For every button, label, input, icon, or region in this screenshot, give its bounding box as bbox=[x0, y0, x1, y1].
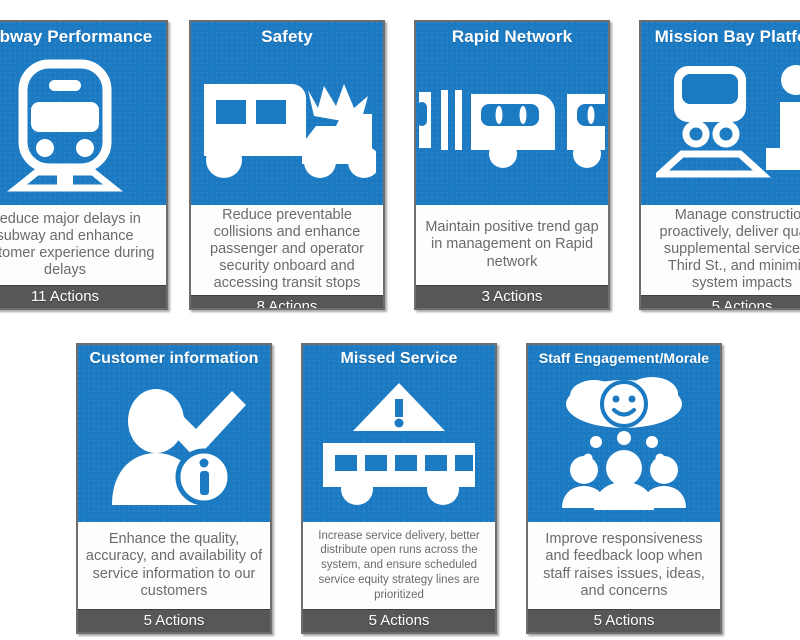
card-action-count[interactable]: 5 Actions bbox=[641, 295, 800, 310]
bus-fleet-speed-icon bbox=[416, 47, 608, 205]
bus-car-collision-icon bbox=[191, 47, 383, 205]
card-header: Missed Service bbox=[303, 345, 495, 522]
card-description: Improve responsiveness and feedback loop… bbox=[528, 522, 720, 609]
person-checkmark-info-icon bbox=[78, 368, 270, 522]
card-header: Rapid Network bbox=[416, 22, 608, 205]
card-description: Enhance the quality, accuracy, and avail… bbox=[78, 522, 270, 609]
card-header: Mission Bay Platform bbox=[641, 22, 800, 205]
card-header: Safety bbox=[191, 22, 383, 205]
card-title: Missed Service bbox=[340, 345, 457, 368]
card-subway-performance[interactable]: Subway Performance Reduce major delays i… bbox=[0, 20, 168, 310]
card-title: Rapid Network bbox=[452, 22, 572, 47]
card-rapid-network[interactable]: Rapid Network bbox=[414, 20, 610, 310]
card-safety[interactable]: Safety Reduce preventable collisions and… bbox=[189, 20, 385, 310]
card-staff-engagement-morale[interactable]: Staff Engagement/Morale bbox=[526, 343, 722, 634]
card-customer-information[interactable]: Customer information Enhance the quality… bbox=[76, 343, 272, 634]
card-header: Staff Engagement/Morale bbox=[528, 345, 720, 522]
card-title: Staff Engagement/Morale bbox=[539, 345, 709, 366]
card-title: Mission Bay Platform bbox=[655, 22, 800, 47]
card-action-count[interactable]: 11 Actions bbox=[0, 285, 166, 308]
bus-warning-icon bbox=[303, 368, 495, 522]
card-description: Reduce preventable collisions and enhanc… bbox=[191, 205, 383, 295]
card-header: Customer information bbox=[78, 345, 270, 522]
card-title: Subway Performance bbox=[0, 22, 152, 47]
card-description: Manage construction proactively, deliver… bbox=[641, 205, 800, 295]
card-action-count[interactable]: 3 Actions bbox=[416, 285, 608, 308]
card-title: Safety bbox=[261, 22, 313, 47]
card-action-count[interactable]: 5 Actions bbox=[303, 609, 495, 632]
card-mission-bay-platform[interactable]: Mission Bay Platform Manage construction… bbox=[639, 20, 800, 310]
card-action-count[interactable]: 5 Actions bbox=[78, 609, 270, 632]
people-smiley-thought-cloud-icon bbox=[528, 366, 720, 522]
card-header: Subway Performance bbox=[0, 22, 166, 205]
card-missed-service[interactable]: Missed Service Increase ser bbox=[301, 343, 497, 634]
train-platform-passenger-icon bbox=[641, 47, 800, 205]
card-description: Reduce major delays in subway and enhanc… bbox=[0, 205, 166, 285]
strategy-card-board: Subway Performance Reduce major delays i… bbox=[0, 0, 800, 640]
card-description: Maintain positive trend gap in managemen… bbox=[416, 205, 608, 285]
card-action-count[interactable]: 5 Actions bbox=[528, 609, 720, 632]
card-action-count[interactable]: 8 Actions bbox=[191, 295, 383, 310]
card-title: Customer information bbox=[89, 345, 258, 368]
light-rail-train-icon bbox=[0, 47, 166, 205]
card-description: Increase service delivery, better distri… bbox=[303, 522, 495, 609]
